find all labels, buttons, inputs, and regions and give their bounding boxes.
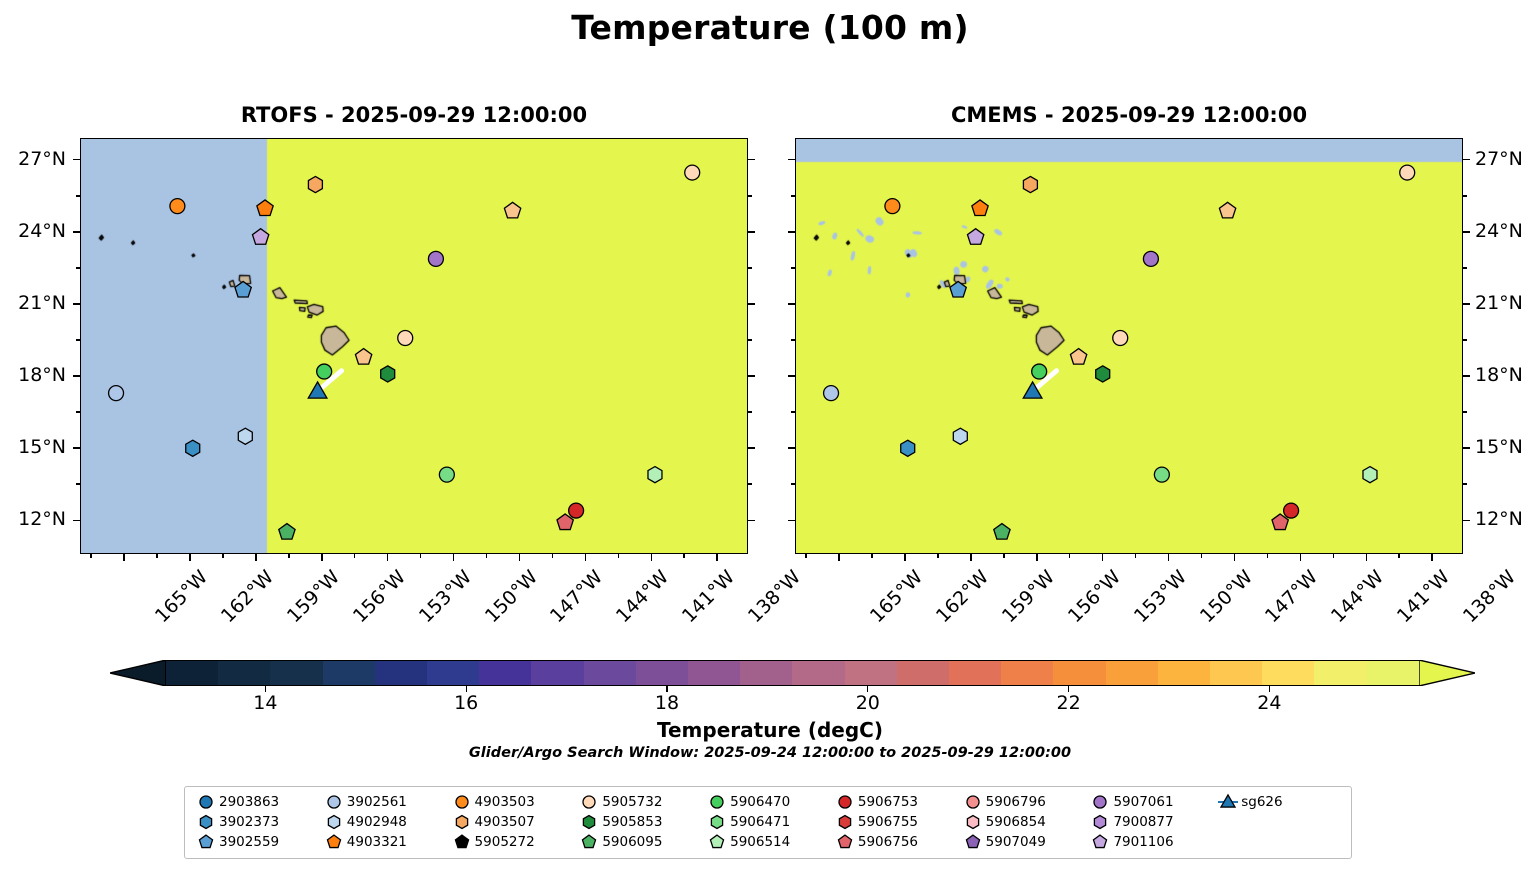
ytick-major [748,520,755,522]
legend-item-4903503[interactable]: 4903503 [449,793,577,811]
xtick-minor [288,554,290,558]
legend-item-5905272[interactable]: 5905272 [449,833,577,851]
legend-shape-icon[interactable] [1094,835,1107,847]
legend-item-7900877[interactable]: 7900877 [1087,813,1215,831]
legend-label-4903503: 4903503 [475,794,535,810]
legend-shape-icon[interactable] [456,816,467,829]
legend-item-3902373[interactable]: 3902373 [193,813,321,831]
xtick-major [519,554,521,561]
colorbar-segment [531,661,583,685]
legend-shape-icon[interactable] [584,816,595,829]
legend-label-5906095: 5906095 [602,834,662,850]
marker-5907061[interactable] [428,251,443,266]
marker-7901106[interactable] [252,229,268,245]
colorbar-segment [688,661,740,685]
legend-label-5907061: 5907061 [1113,794,1173,810]
marker-5905853[interactable] [381,366,395,382]
legend-label-5906753: 5906753 [858,794,918,810]
legend-label-7901106: 7901106 [1113,834,1173,850]
colorbar-segment [218,661,270,685]
ytick-major [1463,303,1470,305]
xtick-label: 138°W [744,566,805,627]
ytick-minor [1463,195,1467,197]
legend-shape-icon[interactable] [328,796,340,808]
ytick-major [1463,159,1470,161]
xtick-label: 159°W [998,566,1059,627]
ytick-label: 18°N [0,364,66,386]
legend-marker-4903503 [449,793,475,811]
legend-label-sg626: sg626 [1241,794,1282,810]
markers-overlay-rtofs [81,139,747,554]
marker-5906470[interactable] [1032,364,1047,379]
colorbar-segment [1001,661,1053,685]
legend-marker-5905853 [576,813,602,831]
xtick-label: 150°W [1195,566,1256,627]
xtick-minor [1069,554,1071,558]
legend-item-5907049[interactable]: 5907049 [960,833,1088,851]
legend-shape-icon[interactable] [967,816,978,829]
xtick-label: 141°W [1393,566,1454,627]
ytick-major [748,159,755,161]
ytick-major [73,375,80,377]
xtick-major [1300,554,1302,561]
colorbar-segment [949,661,1001,685]
legend-label-5906756: 5906756 [858,834,918,850]
xtick-minor [1267,554,1269,558]
xtick-minor [1398,554,1400,558]
ytick-label: 24°N [0,220,66,242]
ytick-major [73,447,80,449]
marker-4903503[interactable] [885,199,900,214]
xtick-major [585,554,587,561]
marker-5907061[interactable] [1143,251,1158,266]
ytick-major [748,231,755,233]
legend-marker-5906471 [704,813,730,831]
xtick-major [716,554,718,561]
xtick-major [651,554,653,561]
marker-5905272b[interactable] [355,349,371,365]
xtick-label: 165°W [151,566,212,627]
legend-label-5906854: 5906854 [986,814,1046,830]
xtick-minor [1333,554,1335,558]
panel-title-cmems: CMEMS - 2025-09-29 12:00:00 [795,103,1463,127]
legend-shape-icon[interactable] [839,816,850,829]
colorbar-segment [1367,661,1419,685]
legend-shape-icon[interactable] [839,796,851,808]
legend-marker-5907061 [1087,793,1113,811]
colorbar-segment [1314,661,1366,685]
legend-shape-icon[interactable] [838,835,851,847]
legend-shape-icon[interactable] [200,796,212,808]
legend-marker-3902559 [193,833,219,851]
legend-item-5906470[interactable]: 5906470 [704,793,832,811]
legend-item-5906854[interactable]: 5906854 [960,813,1088,831]
legend-label-5906471: 5906471 [730,814,790,830]
colorbar-segment [1158,661,1210,685]
legend-marker-5906095 [576,833,602,851]
xtick-major [321,554,323,561]
ytick-label: 21°N [1475,292,1523,314]
xtick-label: 165°W [866,566,927,627]
xtick-major [1366,554,1368,561]
ytick-minor [76,483,80,485]
legend-shape-icon[interactable] [1094,796,1106,808]
legend-label-5906796: 5906796 [986,794,1046,810]
ytick-minor [1463,411,1467,413]
legend-shape-icon[interactable] [327,835,340,847]
legend-marker-sg626 [1215,793,1241,811]
ytick-minor [748,411,752,413]
marker-5906470[interactable] [317,364,332,379]
legend-item-5906753[interactable]: 5906753 [832,793,960,811]
ytick-major [748,447,755,449]
xtick-label: 156°W [1064,566,1125,627]
colorbar-segment [792,661,844,685]
legend-shape-icon[interactable] [711,796,723,808]
legend-label-5905853: 5905853 [602,814,662,830]
ytick-major [73,159,80,161]
ytick-minor [76,339,80,341]
legend-item-7901106[interactable]: 7901106 [1087,833,1215,851]
colorbar-segment [1053,661,1105,685]
legend-label-5905732: 5905732 [602,794,662,810]
colorbar [110,660,1430,686]
xtick-minor [222,554,224,558]
legend-label-5906470: 5906470 [730,794,790,810]
legend-shape-icon[interactable] [328,816,339,829]
marker-4903507[interactable] [308,176,322,192]
ytick-major [1463,520,1470,522]
colorbar-tick-label: 24 [1257,692,1281,714]
ytick-minor [791,195,795,197]
colorbar-segment [584,661,636,685]
legend-label-5906755: 5906755 [858,814,918,830]
colorbar-segment [427,661,479,685]
legend-shape-icon[interactable] [711,835,724,847]
colorbar-segment [323,661,375,685]
legend-marker-5905732 [576,793,602,811]
markers-overlay-cmems [796,139,1462,554]
marker-5905732b[interactable] [398,331,413,346]
legend-item-5905732[interactable]: 5905732 [576,793,704,811]
ytick-label: 27°N [0,148,66,170]
xtick-major [189,554,191,561]
legend-shape-icon[interactable] [199,835,212,847]
figure: Temperature (100 m) RTOFS - 2025-09-29 1… [0,0,1540,889]
legend[interactable]: 2903863390237339025593902561490294849033… [184,786,1352,859]
colorbar-extend-triangle [110,660,166,686]
colorbar-segment [166,661,218,685]
ytick-minor [1463,267,1467,269]
legend-item-5906514[interactable]: 5906514 [704,833,832,851]
legend-shape-icon[interactable] [966,835,979,847]
legend-label-7900877: 7900877 [1113,814,1173,830]
xtick-major [970,554,972,561]
ytick-minor [76,411,80,413]
legend-shape-icon[interactable] [456,796,468,808]
xtick-major [838,554,840,561]
ytick-minor [748,195,752,197]
legend-item-5907061[interactable]: 5907061 [1087,793,1215,811]
ytick-label: 15°N [1475,436,1523,458]
xtick-major [387,554,389,561]
legend-label-3902559: 3902559 [219,834,279,850]
legend-label-5905272: 5905272 [475,834,535,850]
marker-3902373[interactable] [901,440,915,456]
xtick-minor [420,554,422,558]
marker-5906753[interactable] [1284,503,1299,518]
xtick-minor [552,554,554,558]
marker-5905732[interactable] [1400,165,1415,180]
legend-item-5906755[interactable]: 5906755 [832,813,960,831]
colorbar-segment [1262,661,1314,685]
colorbar-segment [740,661,792,685]
ytick-minor [1463,339,1467,341]
colorbar-segment [897,661,949,685]
ytick-minor [1463,483,1467,485]
legend-item-5906471[interactable]: 5906471 [704,813,832,831]
xtick-label: 147°W [546,566,607,627]
ytick-major [788,447,795,449]
ytick-major [788,520,795,522]
colorbar-tick-label: 14 [253,692,277,714]
ytick-major [1463,447,1470,449]
ytick-minor [748,267,752,269]
ytick-major [788,303,795,305]
xtick-major [1431,554,1433,561]
panel-title-rtofs: RTOFS - 2025-09-29 12:00:00 [80,103,748,127]
ytick-label: 27°N [1475,148,1523,170]
colorbar-segment [1106,661,1158,685]
colorbar-segment [1210,661,1262,685]
ytick-label: 18°N [1475,364,1523,386]
colorbar-tick-label: 22 [1057,692,1081,714]
marker-5905732b[interactable] [1113,331,1128,346]
xtick-minor [937,554,939,558]
legend-marker-7901106 [1087,833,1113,851]
xtick-minor [871,554,873,558]
legend-shape-icon[interactable] [455,835,468,847]
ytick-minor [791,483,795,485]
colorbar-tick-label: 18 [655,692,679,714]
legend-marker-5906753 [832,793,858,811]
map-panel-rtofs[interactable] [80,138,748,554]
xtick-label: 150°W [480,566,541,627]
marker-3902561[interactable] [109,386,124,401]
legend-item-4902948[interactable]: 4902948 [321,813,449,831]
legend-shape-icon[interactable] [711,816,722,829]
xtick-label: 141°W [678,566,739,627]
colorbar-extend-low [110,660,166,686]
xtick-label: 138°W [1459,566,1520,627]
xtick-label: 159°W [283,566,344,627]
legend-shape-icon[interactable] [583,835,596,847]
legend-item-4903507[interactable]: 4903507 [449,813,577,831]
marker-5906514[interactable] [648,467,662,483]
xtick-minor [1201,554,1203,558]
ytick-label: 12°N [0,508,66,530]
legend-marker-4903321 [321,833,347,851]
legend-label-5907049: 5907049 [986,834,1046,850]
marker-5905272b[interactable] [1070,349,1086,365]
ytick-label: 15°N [0,436,66,458]
marker-5905853[interactable] [1096,366,1110,382]
ytick-major [748,303,755,305]
xtick-minor [683,554,685,558]
ytick-major [788,231,795,233]
xtick-major [453,554,455,561]
xtick-major [123,554,125,561]
legend-item-2903863[interactable]: 2903863 [193,793,321,811]
marker-4903321[interactable] [972,200,988,216]
legend-shape-icon[interactable] [1095,816,1106,829]
marker-5906753[interactable] [569,503,584,518]
legend-marker-5905272 [449,833,475,851]
xtick-label: 153°W [415,566,476,627]
ytick-minor [748,339,752,341]
marker-3902561[interactable] [824,386,839,401]
legend-shape-icon[interactable] [967,796,979,808]
legend-label-4903321: 4903321 [347,834,407,850]
xtick-minor [486,554,488,558]
legend-item-5906756[interactable]: 5906756 [832,833,960,851]
colorbar-segment [270,661,322,685]
xtick-major [1234,554,1236,561]
marker-4903321[interactable] [257,200,273,216]
colorbar-segment [845,661,897,685]
marker-5906471[interactable] [439,467,454,482]
legend-marker-2903863 [193,793,219,811]
ytick-major [788,159,795,161]
colorbar-segment [479,661,531,685]
legend-item-3902559[interactable]: 3902559 [193,833,321,851]
legend-marker-4902948 [321,813,347,831]
xtick-minor [1003,554,1005,558]
ytick-major [73,303,80,305]
ytick-major [73,520,80,522]
legend-marker-5906796 [960,793,986,811]
legend-marker-3902561 [321,793,347,811]
colorbar-segment [636,661,688,685]
legend-marker-4903507 [449,813,475,831]
ytick-minor [76,267,80,269]
ytick-major [788,375,795,377]
legend-label-5906514: 5906514 [730,834,790,850]
marker-4902948[interactable] [953,428,967,444]
marker-3902373[interactable] [186,440,200,456]
xtick-major [255,554,257,561]
xtick-minor [354,554,356,558]
ytick-major [748,375,755,377]
marker-4903503[interactable] [170,199,185,214]
legend-label-4902948: 4902948 [347,814,407,830]
legend-marker-5907049 [960,833,986,851]
xtick-major [1168,554,1170,561]
legend-item-5905853[interactable]: 5905853 [576,813,704,831]
legend-marker-7900877 [1087,813,1113,831]
ytick-label: 21°N [0,292,66,314]
legend-item-4903321[interactable]: 4903321 [321,833,449,851]
marker-5905272[interactable] [504,202,520,218]
legend-label-4903507: 4903507 [475,814,535,830]
colorbar-tick-label: 16 [454,692,478,714]
ytick-major [73,231,80,233]
colorbar-segment [375,661,427,685]
legend-item-3902561[interactable]: 3902561 [321,793,449,811]
ytick-minor [791,267,795,269]
marker-4903507[interactable] [1023,176,1037,192]
legend-marker-5906755 [832,813,858,831]
xtick-major [1036,554,1038,561]
xtick-minor [90,554,92,558]
xtick-label: 144°W [1327,566,1388,627]
legend-shape-icon[interactable] [200,816,211,829]
ytick-major [1463,375,1470,377]
xtick-label: 156°W [349,566,410,627]
marker-3902559[interactable] [235,281,251,297]
legend-item-5906796[interactable]: 5906796 [960,793,1088,811]
map-panel-cmems[interactable] [795,138,1463,554]
marker-3902559[interactable] [950,281,966,297]
xtick-major [1102,554,1104,561]
legend-marker-5906756 [832,833,858,851]
ytick-minor [791,339,795,341]
ytick-major [1463,231,1470,233]
legend-shape-icon[interactable] [583,796,595,808]
marker-5906471[interactable] [1154,467,1169,482]
marker-5905732[interactable] [685,165,700,180]
legend-marker-5906470 [704,793,730,811]
ytick-minor [791,411,795,413]
colorbar-tick-label: 20 [856,692,880,714]
xtick-label: 162°W [932,566,993,627]
marker-5906095[interactable] [994,524,1010,540]
marker-4902948[interactable] [238,428,252,444]
glider-marker-icon[interactable] [1221,795,1235,807]
colorbar-label: Temperature (degC) [0,718,1540,742]
xtick-minor [1135,554,1137,558]
xtick-label: 144°W [612,566,673,627]
colorbar-extend-high [1419,660,1475,686]
xtick-label: 147°W [1261,566,1322,627]
xtick-minor [156,554,158,558]
legend-item-5906095[interactable]: 5906095 [576,833,704,851]
legend-item-sg626[interactable]: sg626 [1215,793,1343,811]
legend-marker-5906854 [960,813,986,831]
xtick-label: 162°W [217,566,278,627]
marker-5906514[interactable] [1363,467,1377,483]
colorbar-body [165,660,1420,686]
marker-5906095[interactable] [279,524,295,540]
legend-label-2903863: 2903863 [219,794,279,810]
xtick-major [904,554,906,561]
ytick-label: 24°N [1475,220,1523,242]
xtick-minor [618,554,620,558]
xtick-minor [805,554,807,558]
legend-marker-5906514 [704,833,730,851]
search-window-caption: Glider/Argo Search Window: 2025-09-24 12… [0,745,1540,761]
page-title: Temperature (100 m) [0,8,1540,47]
legend-marker-3902373 [193,813,219,831]
legend-label-3902561: 3902561 [347,794,407,810]
ytick-label: 12°N [1475,508,1523,530]
colorbar-extend-triangle [1419,660,1475,686]
ytick-minor [748,483,752,485]
marker-7901106[interactable] [967,229,983,245]
legend-label-3902373: 3902373 [219,814,279,830]
xtick-label: 153°W [1130,566,1191,627]
marker-5905272[interactable] [1219,202,1235,218]
